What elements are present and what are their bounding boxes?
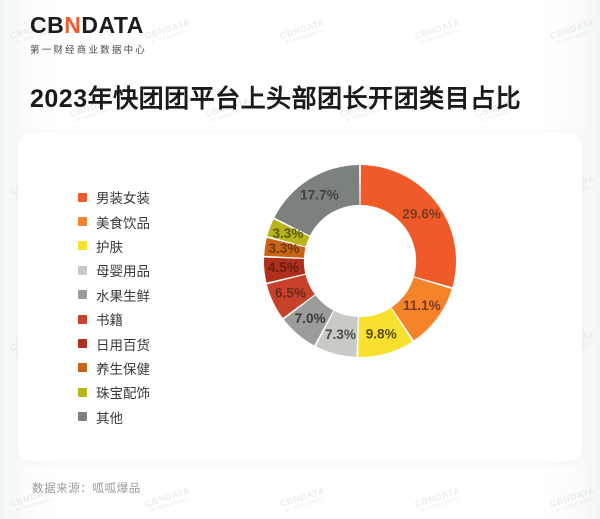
legend-color-swatch <box>78 193 87 202</box>
legend-item-label: 护肤 <box>96 236 123 256</box>
legend-item-label: 书籍 <box>96 309 123 329</box>
data-source-note: 数据来源：呱呱爆品 <box>32 480 141 496</box>
slice-value-label: 7.0% <box>295 311 326 326</box>
legend-color-swatch <box>78 339 87 348</box>
logo-accent-letter: N <box>64 12 81 38</box>
legend-item[interactable]: 日用百货 <box>78 331 150 355</box>
slice-value-label: 9.8% <box>366 326 397 341</box>
legend-color-swatch <box>78 363 87 372</box>
page-title: 2023年快团团平台上头部团长开团类目占比 <box>30 79 521 115</box>
legend-color-swatch <box>78 412 87 421</box>
chart-legend: 男装女装美食饮品护肤母婴用品水果生鲜书籍日用百货养生保健珠宝配饰其他 <box>78 185 150 429</box>
legend-item[interactable]: 护肤 <box>78 234 150 258</box>
logo-wordmark: CBNDATA <box>30 14 147 37</box>
slice-value-label: 4.5% <box>268 260 299 275</box>
legend-color-swatch <box>78 290 87 299</box>
legend-item-label: 母婴用品 <box>96 260 150 280</box>
slice-value-label: 7.3% <box>325 327 356 342</box>
legend-item[interactable]: 母婴用品 <box>78 258 150 282</box>
legend-color-swatch <box>78 388 87 397</box>
legend-color-swatch <box>78 241 87 250</box>
legend-item-label: 男装女装 <box>96 187 150 207</box>
legend-item[interactable]: 养生保健 <box>78 356 150 380</box>
legend-item[interactable]: 男装女装 <box>78 185 150 209</box>
legend-item-label: 水果生鲜 <box>96 285 150 305</box>
legend-item-label: 养生保健 <box>96 358 150 378</box>
cbndata-logo: CBNDATA 第一财经商业数据中心 <box>30 14 147 56</box>
slice-value-label: 11.1% <box>403 298 441 313</box>
legend-item[interactable]: 水果生鲜 <box>78 283 150 307</box>
legend-item-label: 其他 <box>96 407 123 427</box>
donut-chart: 29.6%11.1%9.8%7.3%7.0%6.5%4.5%3.3%3.3%17… <box>240 141 480 381</box>
logo-prefix: CB <box>30 12 64 38</box>
logo-subtitle: 第一财经商业数据中心 <box>30 42 147 56</box>
donut-slice[interactable] <box>361 165 456 287</box>
legend-item[interactable]: 美食饮品 <box>78 209 150 233</box>
chart-card: 男装女装美食饮品护肤母婴用品水果生鲜书籍日用百货养生保健珠宝配饰其他 29.6%… <box>18 133 582 461</box>
legend-item-label: 珠宝配饰 <box>96 382 150 402</box>
slice-value-label: 29.6% <box>402 207 441 222</box>
legend-item[interactable]: 其他 <box>78 405 150 429</box>
legend-item[interactable]: 书籍 <box>78 307 150 331</box>
slice-value-label: 6.5% <box>275 285 306 300</box>
legend-item-label: 美食饮品 <box>96 212 150 232</box>
legend-item[interactable]: 珠宝配饰 <box>78 380 150 404</box>
slice-value-label: 17.7% <box>300 187 339 202</box>
legend-color-swatch <box>78 266 87 275</box>
logo-suffix: DATA <box>81 12 143 38</box>
legend-color-swatch <box>78 217 87 226</box>
legend-color-swatch <box>78 315 87 324</box>
donut-chart-svg: 29.6%11.1%9.8%7.3%7.0%6.5%4.5%3.3%3.3%17… <box>240 141 480 381</box>
legend-item-label: 日用百货 <box>96 334 150 354</box>
